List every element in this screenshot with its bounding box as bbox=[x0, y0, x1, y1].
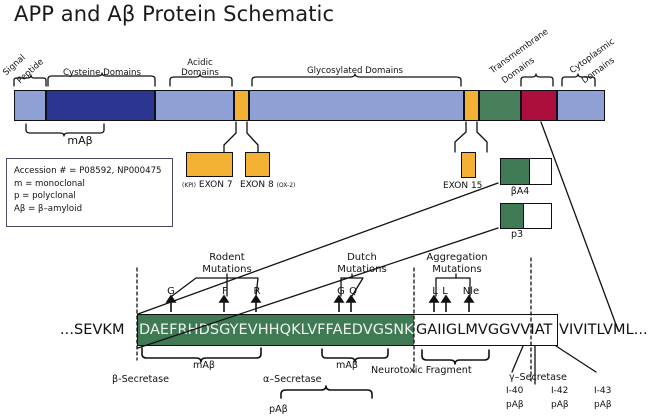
arrow-agg-l1 bbox=[430, 296, 438, 312]
exon-8-label: EXON 8 (OX-2) bbox=[240, 180, 295, 190]
app-segment-glycosylated bbox=[249, 90, 464, 121]
label-pab-main: pAβ bbox=[269, 404, 288, 415]
leader-exon-15-left bbox=[455, 122, 466, 152]
leader-i40 bbox=[512, 346, 523, 372]
sequence-abeta-core: DAEFRHDSGYEVHHQKLVFFAEDVGSNK bbox=[139, 314, 414, 346]
arrow-dutch-g bbox=[335, 296, 343, 312]
arrow-dutch-q bbox=[347, 296, 355, 312]
p3-box bbox=[500, 203, 552, 229]
aggregation-mutations-line2: Mutations bbox=[411, 264, 503, 276]
sequence-prefix: ...SEVKM bbox=[60, 314, 125, 346]
label-acidic-line2: Domains bbox=[165, 68, 235, 78]
app-segment-acidic-exon bbox=[234, 90, 249, 121]
app-segment-exon-15 bbox=[464, 90, 479, 121]
bracket-pab bbox=[281, 386, 372, 398]
exon-8-name: EXON 8 bbox=[240, 180, 274, 190]
label-i42-sub: pAβ bbox=[551, 400, 569, 410]
p3-label: p3 bbox=[500, 229, 534, 240]
residue-agg-l2: L bbox=[440, 286, 450, 297]
app-segment-cytoplasmic bbox=[557, 90, 605, 121]
label-alpha-secretase: α–Secretase bbox=[263, 374, 322, 385]
rodent-mutation-tree bbox=[172, 274, 258, 296]
leader-transmembrane-to-sequence bbox=[541, 122, 618, 330]
bracket-mab-right-a bbox=[368, 348, 424, 362]
exon-7-prefix: (KPI) bbox=[182, 182, 196, 189]
arrow-agg-nle bbox=[465, 296, 473, 312]
label-mab-right: mAβ bbox=[336, 360, 358, 371]
label-beta-secretase: β-Secretase bbox=[112, 374, 169, 385]
schematic-figure: APP and Aβ Protein Schematic Signal Pept… bbox=[0, 0, 650, 420]
legend-line-monoclonal: m = monoclonal bbox=[14, 178, 172, 191]
page-title: APP and Aβ Protein Schematic bbox=[14, 2, 334, 26]
residue-dutch-q: Q bbox=[346, 286, 360, 297]
label-mab-left: mAβ bbox=[193, 360, 215, 371]
exon-7-box bbox=[186, 152, 233, 177]
residue-rodent-g: G bbox=[164, 286, 178, 297]
residue-rodent-f: F bbox=[218, 286, 232, 297]
exon-8-suffix: (OX-2) bbox=[277, 182, 296, 189]
mutation-arrows bbox=[167, 296, 473, 312]
arrow-rodent-r bbox=[252, 296, 260, 312]
label-neurotoxic-fragment: Neurotoxic Fragment bbox=[371, 365, 472, 376]
beta-a4-box bbox=[500, 158, 552, 185]
rodent-mutations-line1: Rodent bbox=[182, 252, 272, 264]
exon-15-label: EXON 15 bbox=[443, 181, 482, 191]
p3-green-part bbox=[501, 204, 523, 228]
label-i42: I-42 bbox=[551, 386, 568, 396]
dutch-mutations-line2: Mutations bbox=[322, 264, 402, 276]
arrow-agg-l2 bbox=[442, 296, 450, 312]
exon-7-name: EXON 7 bbox=[199, 180, 233, 190]
beta-a4-label: βA4 bbox=[500, 186, 540, 197]
sequence-suffix: VIVITLVML... bbox=[559, 314, 648, 346]
dutch-mutations-line1: Dutch bbox=[322, 252, 402, 264]
residue-agg-l1: L bbox=[430, 286, 440, 297]
leader-exon-8 bbox=[247, 122, 258, 152]
label-acidic-line1: Acidic bbox=[165, 58, 235, 68]
legend-line-amyloid: Aβ = β–amyloid bbox=[14, 203, 172, 216]
legend-line-accession: Accession # = P08592, NP000475 bbox=[14, 165, 172, 178]
app-segment-spacer bbox=[155, 90, 234, 121]
rodent-mutations-line2: Mutations bbox=[182, 264, 272, 276]
exon-15-box bbox=[461, 152, 476, 178]
leader-exon-15-right bbox=[477, 122, 487, 152]
beta-a4-green-part bbox=[501, 159, 529, 184]
exon-8-box bbox=[245, 152, 270, 177]
label-cysteine-mab-bracket: mAβ bbox=[40, 136, 120, 146]
p3-white-part bbox=[523, 204, 551, 228]
label-cysteine-domains: Cysteine Domains bbox=[52, 68, 152, 78]
bracket-transmembrane bbox=[521, 74, 553, 86]
label-glycosylated-domains: Glycosylated Domains bbox=[265, 66, 445, 76]
app-segment-abeta bbox=[479, 90, 521, 121]
leader-exon-7 bbox=[224, 122, 236, 152]
exon-7-label: (KPI) EXON 7 bbox=[182, 180, 233, 190]
legend-line-polyclonal: p = polyclonal bbox=[14, 190, 172, 203]
leader-i43 bbox=[556, 346, 596, 372]
label-i43-sub: pAβ bbox=[594, 400, 612, 410]
sequence-tm-part: GAIIGLMVGGVVIAT bbox=[416, 314, 552, 346]
aggregation-mutations-line1: Aggregation bbox=[411, 252, 503, 264]
bracket-neurotoxic-fragment bbox=[422, 350, 489, 364]
beta-a4-white-part bbox=[529, 159, 551, 184]
label-i40: I-40 bbox=[506, 386, 523, 396]
arrow-rodent-f bbox=[220, 296, 228, 312]
legend-box: Accession # = P08592, NP000475 m = monoc… bbox=[6, 158, 173, 227]
app-segment-signal-peptide bbox=[14, 90, 46, 121]
app-segment-cysteine-domains bbox=[46, 90, 155, 121]
residue-agg-nle: Nle bbox=[462, 286, 480, 297]
label-i43: I-43 bbox=[594, 386, 611, 396]
label-gamma-secretase: γ–Secretase bbox=[509, 372, 567, 383]
label-i40-sub: pAβ bbox=[506, 400, 524, 410]
residue-rodent-r: R bbox=[250, 286, 264, 297]
app-segment-transmembrane bbox=[521, 90, 557, 121]
arrow-rodent-g bbox=[167, 296, 175, 312]
